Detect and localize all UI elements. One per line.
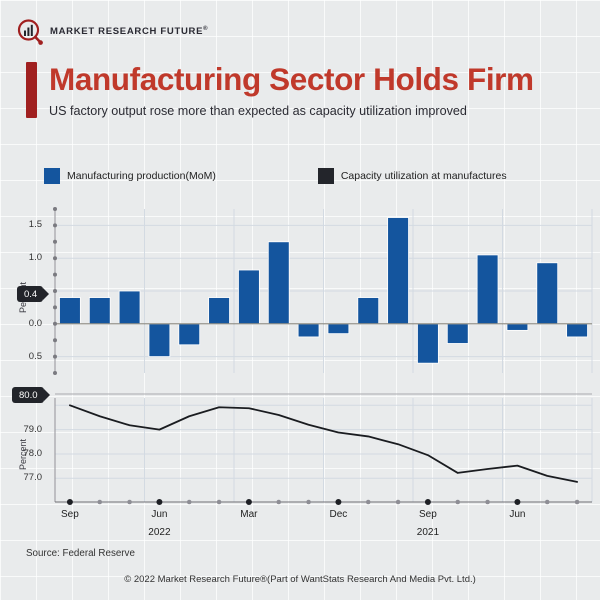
line-chart-plot — [0, 390, 600, 515]
x-axis-tick-label: Sep — [61, 509, 79, 520]
bar — [447, 324, 468, 344]
x-axis-tick-label: Dec — [330, 509, 348, 520]
x-axis-tick-label: Jun — [151, 509, 167, 520]
copyright-note: © 2022 Market Research Future®(Part of W… — [0, 574, 600, 585]
bar — [328, 324, 349, 334]
title-accent-bar — [26, 62, 37, 118]
bar — [417, 324, 438, 363]
bar — [477, 255, 498, 324]
brand-name-text: MARKET RESEARCH FUTURE — [50, 27, 203, 38]
x-axis-tick-label: Sep — [419, 509, 437, 520]
page-subtitle: US factory output rose more than expecte… — [49, 104, 534, 118]
x-axis-tick-label: Jun — [509, 509, 525, 520]
bar — [238, 270, 259, 324]
bar — [149, 324, 170, 357]
legend-label: Manufacturing production(MoM) — [67, 170, 216, 182]
x-axis-tick-label: Mar — [240, 509, 257, 520]
bar — [59, 298, 80, 324]
page-title: Manufacturing Sector Holds Firm — [49, 62, 534, 96]
bar-chart-plot — [0, 195, 600, 390]
brand-logo: MARKET RESEARCH FUTURE® — [16, 18, 208, 46]
bar — [298, 324, 319, 337]
bar — [179, 324, 200, 345]
bar — [567, 324, 588, 337]
bar — [89, 298, 110, 324]
chart-legend: Manufacturing production(MoM) Capacity u… — [44, 168, 507, 184]
bar — [119, 291, 140, 324]
legend-item-capacity-utilization[interactable]: Capacity utilization at manufactures — [318, 168, 507, 184]
registered-mark: ® — [203, 26, 208, 32]
legend-label: Capacity utilization at manufactures — [341, 170, 507, 182]
bar — [209, 298, 230, 324]
source-note: Source: Federal Reserve — [26, 548, 135, 559]
charts-container: Percent 1.51.00.00.5 0.4 Percent 80.079.… — [0, 195, 600, 515]
title-block: Manufacturing Sector Holds Firm US facto… — [26, 62, 534, 118]
bar — [358, 298, 379, 324]
square-swatch — [44, 168, 60, 184]
square-swatch — [318, 168, 334, 184]
brand-name: MARKET RESEARCH FUTURE® — [50, 26, 208, 37]
bar — [537, 263, 558, 324]
x-axis-year-label: 2022 — [148, 527, 170, 538]
legend-item-manufacturing-production[interactable]: Manufacturing production(MoM) — [44, 168, 216, 184]
x-axis-year-label: 2021 — [417, 527, 439, 538]
bar — [268, 242, 289, 324]
bar — [507, 324, 528, 331]
bar — [388, 218, 409, 324]
magnifier-bar-chart-icon — [16, 18, 44, 46]
